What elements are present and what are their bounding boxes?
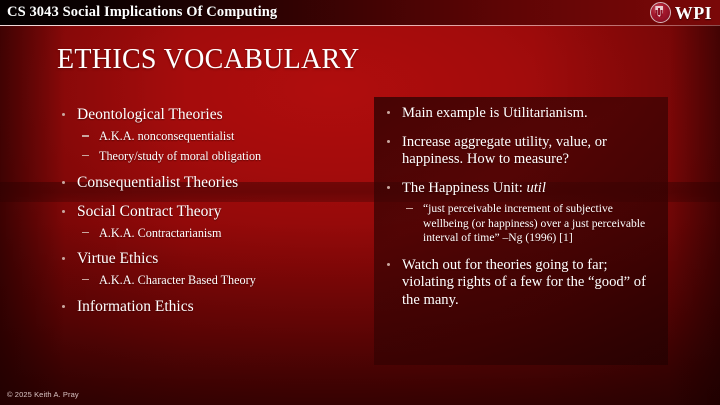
bullet-text: Watch out for theories going to far; vio…: [402, 257, 646, 308]
sub-bullet-text: Theory/study of moral obligation: [99, 149, 261, 163]
list-item: Main example is Utilitarianism.: [382, 105, 658, 123]
sub-bullet-list: “just perceivable increment of subjectiv…: [402, 202, 658, 246]
sub-bullet-list: A.K.A. Contractarianism: [77, 226, 356, 241]
bullet-text: Virtue Ethics: [77, 250, 158, 267]
right-content-panel: Main example is Utilitarianism. Increase…: [374, 97, 668, 365]
bullet-dot-icon: [62, 257, 65, 260]
copyright-footer: © 2025 Keith A. Pray: [7, 390, 79, 399]
wpi-seal-icon: [650, 2, 671, 23]
bullet-dot-icon: [62, 181, 65, 184]
wpi-logo-text: WPI: [675, 4, 712, 22]
page-title: ETHICS VOCABULARY: [57, 44, 360, 76]
bullet-dash-icon: [82, 135, 89, 136]
bullet-dot-icon: [387, 186, 390, 189]
list-item: The Happiness Unit: util “just perceivab…: [382, 180, 658, 246]
wpi-logo: WPI: [650, 1, 712, 24]
bullet-text: Consequentialist Theories: [77, 174, 238, 191]
bullet-text: Social Contract Theory: [77, 203, 221, 220]
list-item: A.K.A. Character Based Theory: [77, 273, 356, 288]
bullet-dash-icon: [82, 279, 89, 280]
course-title: CS 3043 Social Implications Of Computing: [0, 4, 277, 21]
list-item: A.K.A. nonconsequentialist: [77, 129, 356, 144]
bullet-dash-icon: [82, 232, 89, 233]
sub-bullet-list: A.K.A. Character Based Theory: [77, 273, 356, 288]
sub-bullet-wrapper: A.K.A. Contractarianism: [77, 226, 356, 241]
sub-bullet-text: “just perceivable increment of subjectiv…: [423, 202, 645, 244]
left-bullet-list: Deontological Theories A.K.A. nonconsequ…: [56, 106, 356, 316]
bullet-text: Deontological Theories: [77, 106, 223, 123]
bullet-text: Increase aggregate utility, value, or ha…: [402, 134, 607, 168]
bullet-dot-icon: [387, 140, 390, 143]
bullet-dot-icon: [387, 111, 390, 114]
sub-bullet-list: A.K.A. nonconsequentialist Theory/study …: [77, 129, 356, 163]
list-item: Theory/study of moral obligation: [77, 149, 356, 164]
happiness-unit-term: util: [526, 180, 545, 196]
list-item: Watch out for theories going to far; vio…: [382, 257, 658, 310]
bullet-dot-icon: [387, 263, 390, 266]
list-item: A.K.A. Contractarianism: [77, 226, 356, 241]
bullet-dash-icon: [82, 155, 89, 156]
slide-header-bar: CS 3043 Social Implications Of Computing…: [0, 0, 720, 25]
bullet-dot-icon: [62, 113, 65, 116]
sub-bullet-wrapper: A.K.A. Character Based Theory: [77, 273, 356, 288]
sub-bullet-text: A.K.A. nonconsequentialist: [99, 129, 234, 143]
bullet-dot-icon: [62, 305, 65, 308]
sub-bullet-wrapper: “just perceivable increment of subjectiv…: [402, 202, 658, 246]
left-content-column: Deontological Theories A.K.A. nonconsequ…: [56, 106, 356, 325]
bullet-dash-icon: [406, 208, 413, 209]
list-item: Information Ethics: [56, 298, 356, 316]
header-divider: [0, 25, 720, 26]
list-item: Social Contract Theory A.K.A. Contractar…: [56, 203, 356, 241]
presentation-slide: CS 3043 Social Implications Of Computing…: [0, 0, 720, 405]
right-bullet-list: Main example is Utilitarianism. Increase…: [382, 105, 658, 309]
sub-bullet-text: A.K.A. Contractarianism: [99, 226, 222, 240]
sub-bullet-wrapper: A.K.A. nonconsequentialist Theory/study …: [77, 129, 356, 163]
list-item: Consequentialist Theories: [56, 174, 356, 192]
bullet-text: Main example is Utilitarianism.: [402, 105, 588, 121]
bullet-text: The Happiness Unit:: [402, 180, 526, 196]
bullet-text: Information Ethics: [77, 298, 194, 315]
bullet-dot-icon: [62, 210, 65, 213]
sub-bullet-text: A.K.A. Character Based Theory: [99, 273, 256, 287]
list-item: Increase aggregate utility, value, or ha…: [382, 134, 658, 169]
list-item: “just perceivable increment of subjectiv…: [402, 202, 658, 246]
list-item: Virtue Ethics A.K.A. Character Based The…: [56, 250, 356, 288]
list-item: Deontological Theories A.K.A. nonconsequ…: [56, 106, 356, 164]
